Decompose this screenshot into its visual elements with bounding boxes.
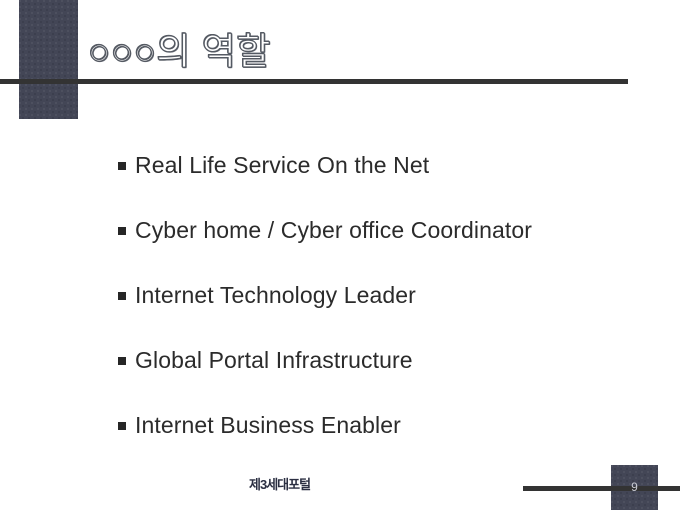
list-item: Cyber home / Cyber office Coordinator (118, 198, 658, 263)
list-item: Real Life Service On the Net (118, 133, 658, 198)
list-item-label: Real Life Service On the Net (135, 152, 429, 179)
list-item: Internet Technology Leader (118, 263, 658, 328)
page-number: 9 (611, 480, 658, 494)
slide-canvas: ○○○의 역할 Real Life Service On the Net Cyb… (0, 0, 680, 510)
square-bullet-icon (118, 357, 126, 365)
bullet-list: Real Life Service On the Net Cyber home … (118, 133, 658, 458)
list-item-label: Internet Business Enabler (135, 412, 401, 439)
list-item: Global Portal Infrastructure (118, 328, 658, 393)
square-bullet-icon (118, 162, 126, 170)
list-item-label: Cyber home / Cyber office Coordinator (135, 217, 532, 244)
list-item: Internet Business Enabler (118, 393, 658, 458)
header-divider-rule (0, 79, 628, 84)
footer-logo: 제3세대포털 (249, 474, 310, 493)
square-bullet-icon (118, 292, 126, 300)
list-item-label: Global Portal Infrastructure (135, 347, 413, 374)
list-item-label: Internet Technology Leader (135, 282, 416, 309)
header-accent-block (19, 0, 78, 119)
square-bullet-icon (118, 422, 126, 430)
square-bullet-icon (118, 227, 126, 235)
page-title: ○○○의 역할 (88, 26, 271, 78)
